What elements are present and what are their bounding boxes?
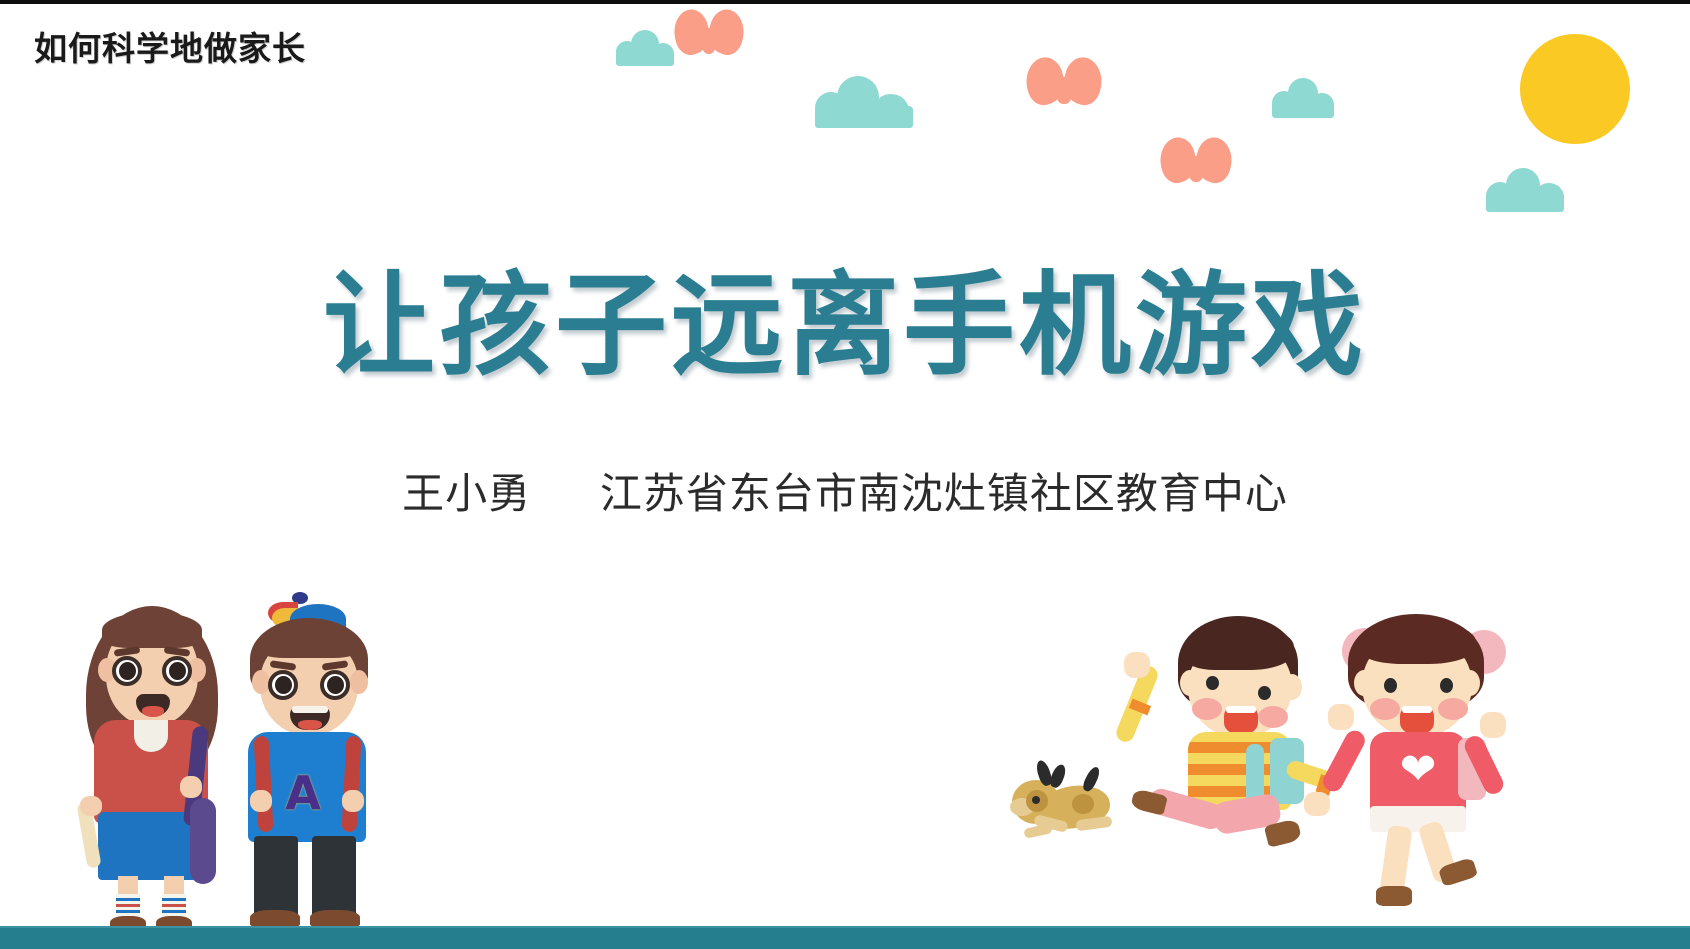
bird-icon bbox=[1160, 138, 1232, 182]
character-running-boy bbox=[1118, 616, 1318, 908]
character-schoolgirl-left bbox=[72, 598, 232, 928]
footer-band bbox=[0, 928, 1690, 949]
bird-icon bbox=[674, 10, 744, 54]
presenter-affiliation: 江苏省东台市南沈灶镇社区教育中心 bbox=[600, 469, 1288, 518]
presentation-slide: 如何科学地做家长 bbox=[0, 0, 1690, 949]
page-title: 让孩子远离手机游戏 bbox=[0, 265, 1690, 388]
cloud-icon bbox=[616, 30, 674, 66]
presenter-name: 王小勇 bbox=[402, 469, 531, 518]
cloud-icon bbox=[1486, 168, 1564, 212]
sun-icon bbox=[1520, 34, 1630, 144]
character-schoolboy-left: A bbox=[228, 592, 378, 928]
bird-icon bbox=[1026, 58, 1102, 104]
top-letterbox-bar bbox=[0, 0, 1690, 4]
slide-header-title: 如何科学地做家长 bbox=[34, 22, 306, 70]
character-dog bbox=[1008, 760, 1130, 852]
cloud-icon bbox=[1272, 78, 1334, 118]
slide-subtitle: 王小勇 江苏省东台市南沈灶镇社区教育中心 bbox=[0, 460, 1690, 521]
character-cheering-girl: ❤ bbox=[1322, 608, 1512, 914]
cloud-icon bbox=[815, 76, 913, 128]
